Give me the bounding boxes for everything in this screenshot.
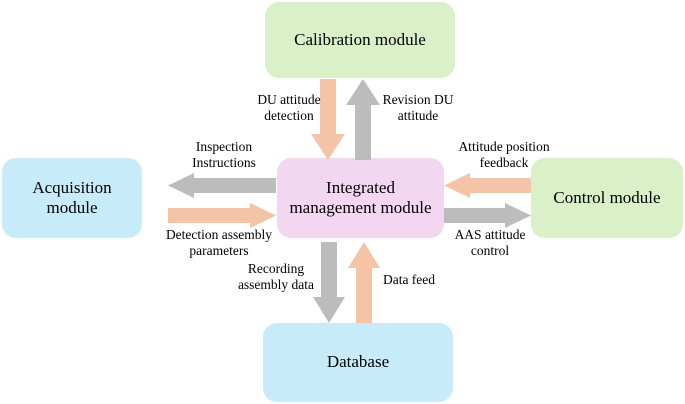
label-aas-attitude-control: AAS attitude control — [444, 227, 536, 259]
label-inspection-instructions: Inspection Instructions — [172, 139, 276, 171]
label-recording-assembly-data: Recording assembly data — [224, 261, 328, 293]
node-calibration-module-label: Calibration module — [294, 30, 426, 50]
label-detection-assembly-parameters: Detection assembly parameters — [158, 227, 280, 259]
arrow-inspection-instructions-icon — [168, 173, 276, 198]
label-attitude-position-feedback: Attitude position feedback — [444, 139, 564, 171]
node-calibration-module[interactable]: Calibration module — [265, 2, 455, 78]
label-data-feed: Data feed — [376, 272, 442, 288]
node-integrated-management-module[interactable]: Integrated management module — [277, 158, 444, 238]
diagram-canvas: Calibration module Acquisition module In… — [0, 0, 685, 404]
arrow-aas-attitude-control-icon — [444, 203, 531, 228]
label-revision-du-attitude: Revision DU attitude — [372, 92, 464, 124]
label-du-attitude-detection: DU attitude detection — [241, 92, 337, 124]
node-database[interactable]: Database — [263, 323, 453, 402]
node-acquisition-module[interactable]: Acquisition module — [2, 158, 142, 238]
node-control-module-label: Control module — [553, 188, 660, 208]
arrow-detection-assembly-parameters-icon — [168, 203, 276, 228]
node-database-label: Database — [327, 352, 389, 372]
arrow-attitude-position-feedback-icon — [444, 173, 531, 198]
node-integrated-management-module-label: Integrated management module — [289, 178, 431, 218]
node-acquisition-module-label: Acquisition module — [32, 178, 111, 218]
